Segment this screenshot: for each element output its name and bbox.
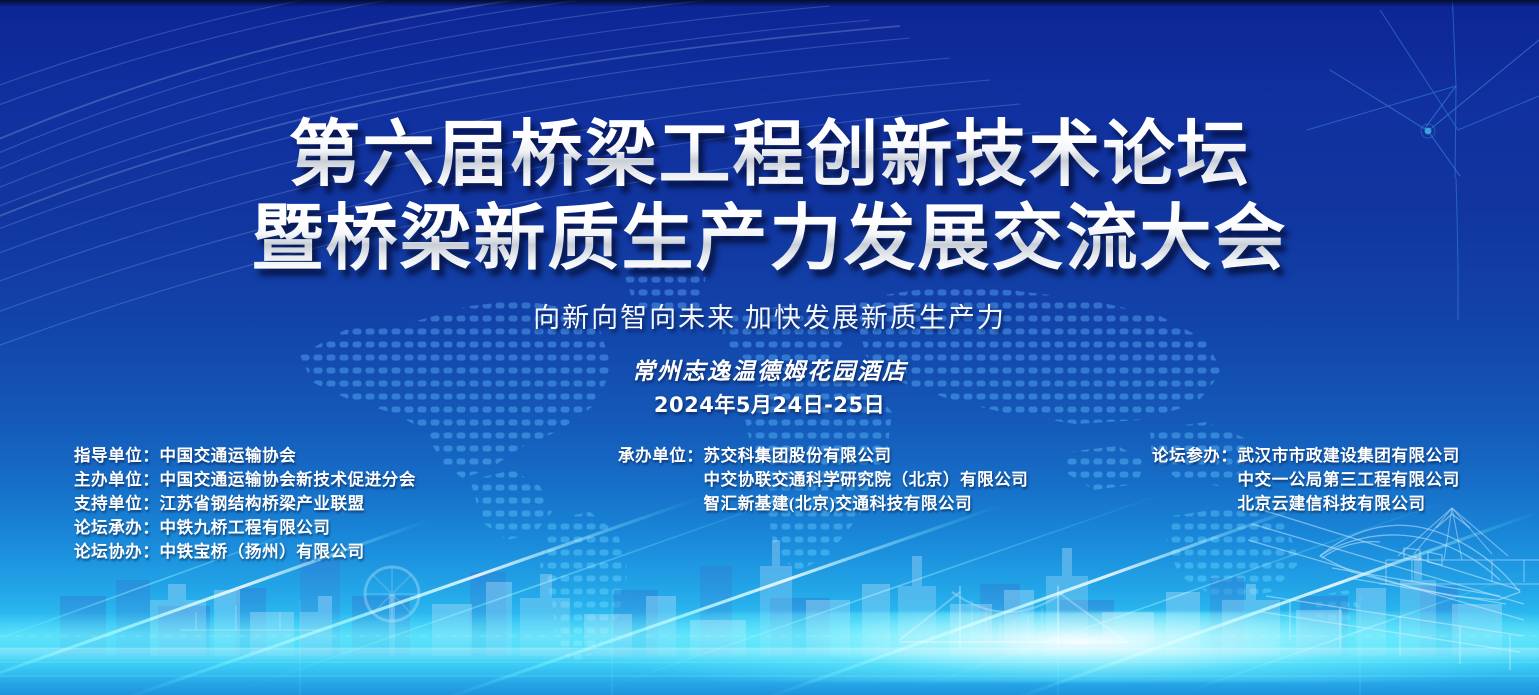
organizer-label: 论坛协办： [74, 540, 160, 564]
organizer-row: 论坛参办：中交一公局第三工程有限公司 [1152, 468, 1460, 492]
title-block: 第六届桥梁工程创新技术论坛 暨桥梁新质生产力发展交流大会 [0, 112, 1539, 280]
organizers-right-column: 论坛参办：武汉市市政建设集团有限公司论坛参办：中交一公局第三工程有限公司论坛参办… [1152, 444, 1460, 516]
organizer-row: 承办单位：苏交科集团股份有限公司 [618, 444, 1028, 468]
title-line-2: 暨桥梁新质生产力发展交流大会 [0, 196, 1539, 280]
organizer-value: 中交协联交通科学研究院（北京）有限公司 [704, 468, 1029, 492]
venue-block: 常州志逸温德姆花园酒店 2024年5月24日-25日 [0, 352, 1539, 419]
organizer-row: 支持单位：江苏省钢结构桥梁产业联盟 [74, 492, 416, 516]
organizer-label: 论坛参办： [1152, 444, 1238, 468]
organizer-label: 承办单位： [618, 444, 704, 468]
conference-banner: 第六届桥梁工程创新技术论坛 暨桥梁新质生产力发展交流大会 向新向智向未来 加快发… [0, 0, 1539, 695]
organizer-label: 论坛承办： [74, 516, 160, 540]
organizer-value: 智汇新基建(北京)交通科技有限公司 [704, 492, 973, 516]
organizer-row: 论坛协办：中铁宝桥（扬州）有限公司 [74, 540, 416, 564]
organizer-value: 中铁九桥工程有限公司 [160, 516, 331, 540]
organizer-row: 承办单位：中交协联交通科学研究院（北京）有限公司 [618, 468, 1028, 492]
organizer-value: 武汉市市政建设集团有限公司 [1238, 444, 1460, 468]
organizers-center-column: 承办单位：苏交科集团股份有限公司承办单位：中交协联交通科学研究院（北京）有限公司… [618, 444, 1028, 516]
organizer-value: 中国交通运输协会新技术促进分会 [160, 468, 417, 492]
organizer-value: 苏交科集团股份有限公司 [704, 444, 892, 468]
title-line-1: 第六届桥梁工程创新技术论坛 [0, 112, 1539, 196]
venue-name: 常州志逸温德姆花园酒店 [0, 352, 1539, 386]
organizer-row: 论坛参办：武汉市市政建设集团有限公司 [1152, 444, 1460, 468]
organizer-row: 指导单位：中国交通运输协会 [74, 444, 416, 468]
organizer-label: 支持单位： [74, 492, 160, 516]
organizer-row: 承办单位：智汇新基建(北京)交通科技有限公司 [618, 492, 1028, 516]
organizer-row: 主办单位：中国交通运输协会新技术促进分会 [74, 468, 416, 492]
organizer-label: 指导单位： [74, 444, 160, 468]
organizer-value: 北京云建信科技有限公司 [1238, 492, 1426, 516]
organizer-row: 论坛参办：北京云建信科技有限公司 [1152, 492, 1460, 516]
organizer-row: 论坛承办：中铁九桥工程有限公司 [74, 516, 416, 540]
organizer-label: 主办单位： [74, 468, 160, 492]
venue-date: 2024年5月24日-25日 [0, 389, 1539, 419]
subtitle: 向新向智向未来 加快发展新质生产力 [0, 296, 1539, 335]
organizer-value: 中交一公局第三工程有限公司 [1238, 468, 1460, 492]
organizer-value: 中铁宝桥（扬州）有限公司 [160, 540, 365, 564]
organizers-left-column: 指导单位：中国交通运输协会主办单位：中国交通运输协会新技术促进分会支持单位：江苏… [74, 444, 416, 564]
organizer-value: 江苏省钢结构桥梁产业联盟 [160, 492, 365, 516]
organizer-value: 中国交通运输协会 [160, 444, 297, 468]
